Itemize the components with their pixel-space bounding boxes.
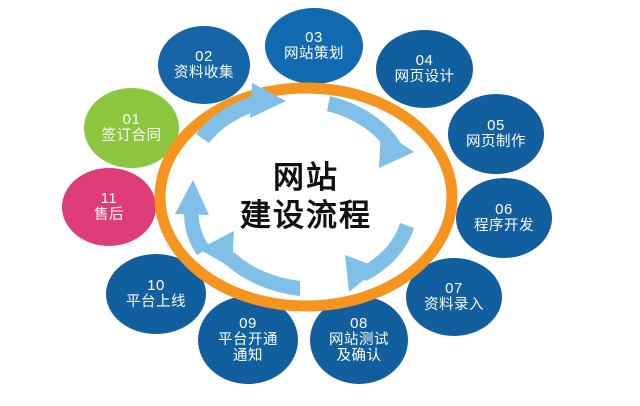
step-bubble-02[interactable]: 02 资料收集 (158, 26, 250, 104)
step-bubble-07[interactable]: 07 资料录入 (406, 258, 502, 336)
step-label: 平台上线 (126, 295, 186, 311)
step-label: 网页制作 (466, 135, 526, 151)
step-bubble-11[interactable]: 11 售后 (62, 168, 156, 246)
step-label: 平台开通 通知 (218, 333, 278, 364)
step-label: 网页设计 (395, 70, 455, 86)
step-number: 10 (147, 278, 165, 294)
step-label: 资料收集 (174, 66, 234, 82)
step-number: 05 (487, 118, 505, 134)
step-bubble-05[interactable]: 05 网页制作 (448, 94, 544, 174)
step-number: 03 (305, 30, 323, 46)
step-number: 09 (239, 316, 257, 332)
step-number: 01 (123, 112, 141, 128)
step-label: 程序开发 (474, 219, 534, 235)
step-number: 02 (195, 49, 213, 65)
step-label: 网站测试 及确认 (329, 333, 389, 364)
cycle-arrow-left (175, 180, 210, 255)
step-number: 07 (445, 281, 463, 297)
step-number: 04 (416, 53, 434, 69)
step-bubble-08[interactable]: 08 网站测试 及确认 (310, 296, 408, 384)
step-bubble-03[interactable]: 03 网站策划 (265, 8, 363, 84)
step-number: 06 (495, 202, 513, 218)
step-label: 资料录入 (424, 298, 484, 314)
step-bubble-10[interactable]: 10 平台上线 (106, 254, 206, 334)
step-bubble-04[interactable]: 04 网页设计 (376, 30, 473, 108)
step-bubble-09[interactable]: 09 平台开通 通知 (198, 296, 298, 384)
cycle-arrow-bottom-left (199, 231, 300, 296)
step-label: 网站策划 (284, 47, 344, 63)
cycle-arrow-top-right (327, 96, 414, 168)
step-bubble-06[interactable]: 06 程序开发 (456, 178, 552, 258)
center-title-line1: 网站 (240, 159, 372, 197)
diagram-center-title: 网站 建设流程 (240, 159, 372, 235)
step-label: 签订合同 (102, 129, 162, 145)
step-number: 11 (101, 191, 118, 207)
step-bubble-01[interactable]: 01 签订合同 (84, 88, 179, 168)
step-label: 售后 (94, 208, 124, 224)
step-number: 08 (350, 316, 368, 332)
center-title-line2: 建设流程 (240, 197, 372, 235)
website-process-diagram: 02 资料收集 03 网站策划 04 网页设计 05 网页制作 06 程序开发 … (0, 0, 640, 401)
